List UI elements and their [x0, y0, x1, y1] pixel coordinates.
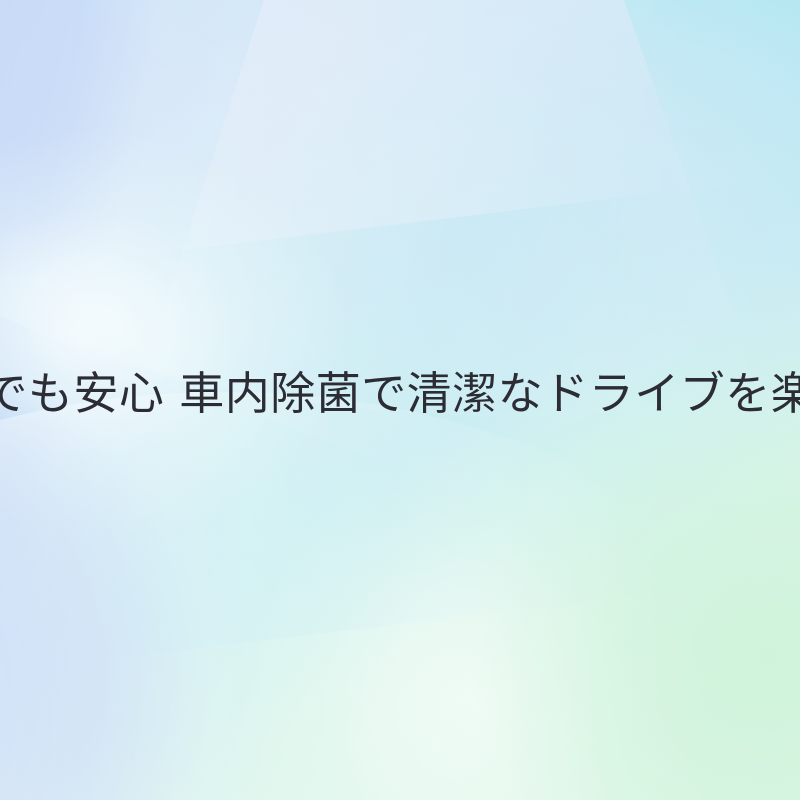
banner-canvas: 連れでも安心 車内除菌で清潔なドライブを楽しむ [0, 0, 800, 800]
headline-row: 連れでも安心 車内除菌で清潔なドライブを楽しむ [0, 362, 800, 426]
headline-text: 連れでも安心 車内除菌で清潔なドライブを楽しむ [0, 369, 800, 419]
